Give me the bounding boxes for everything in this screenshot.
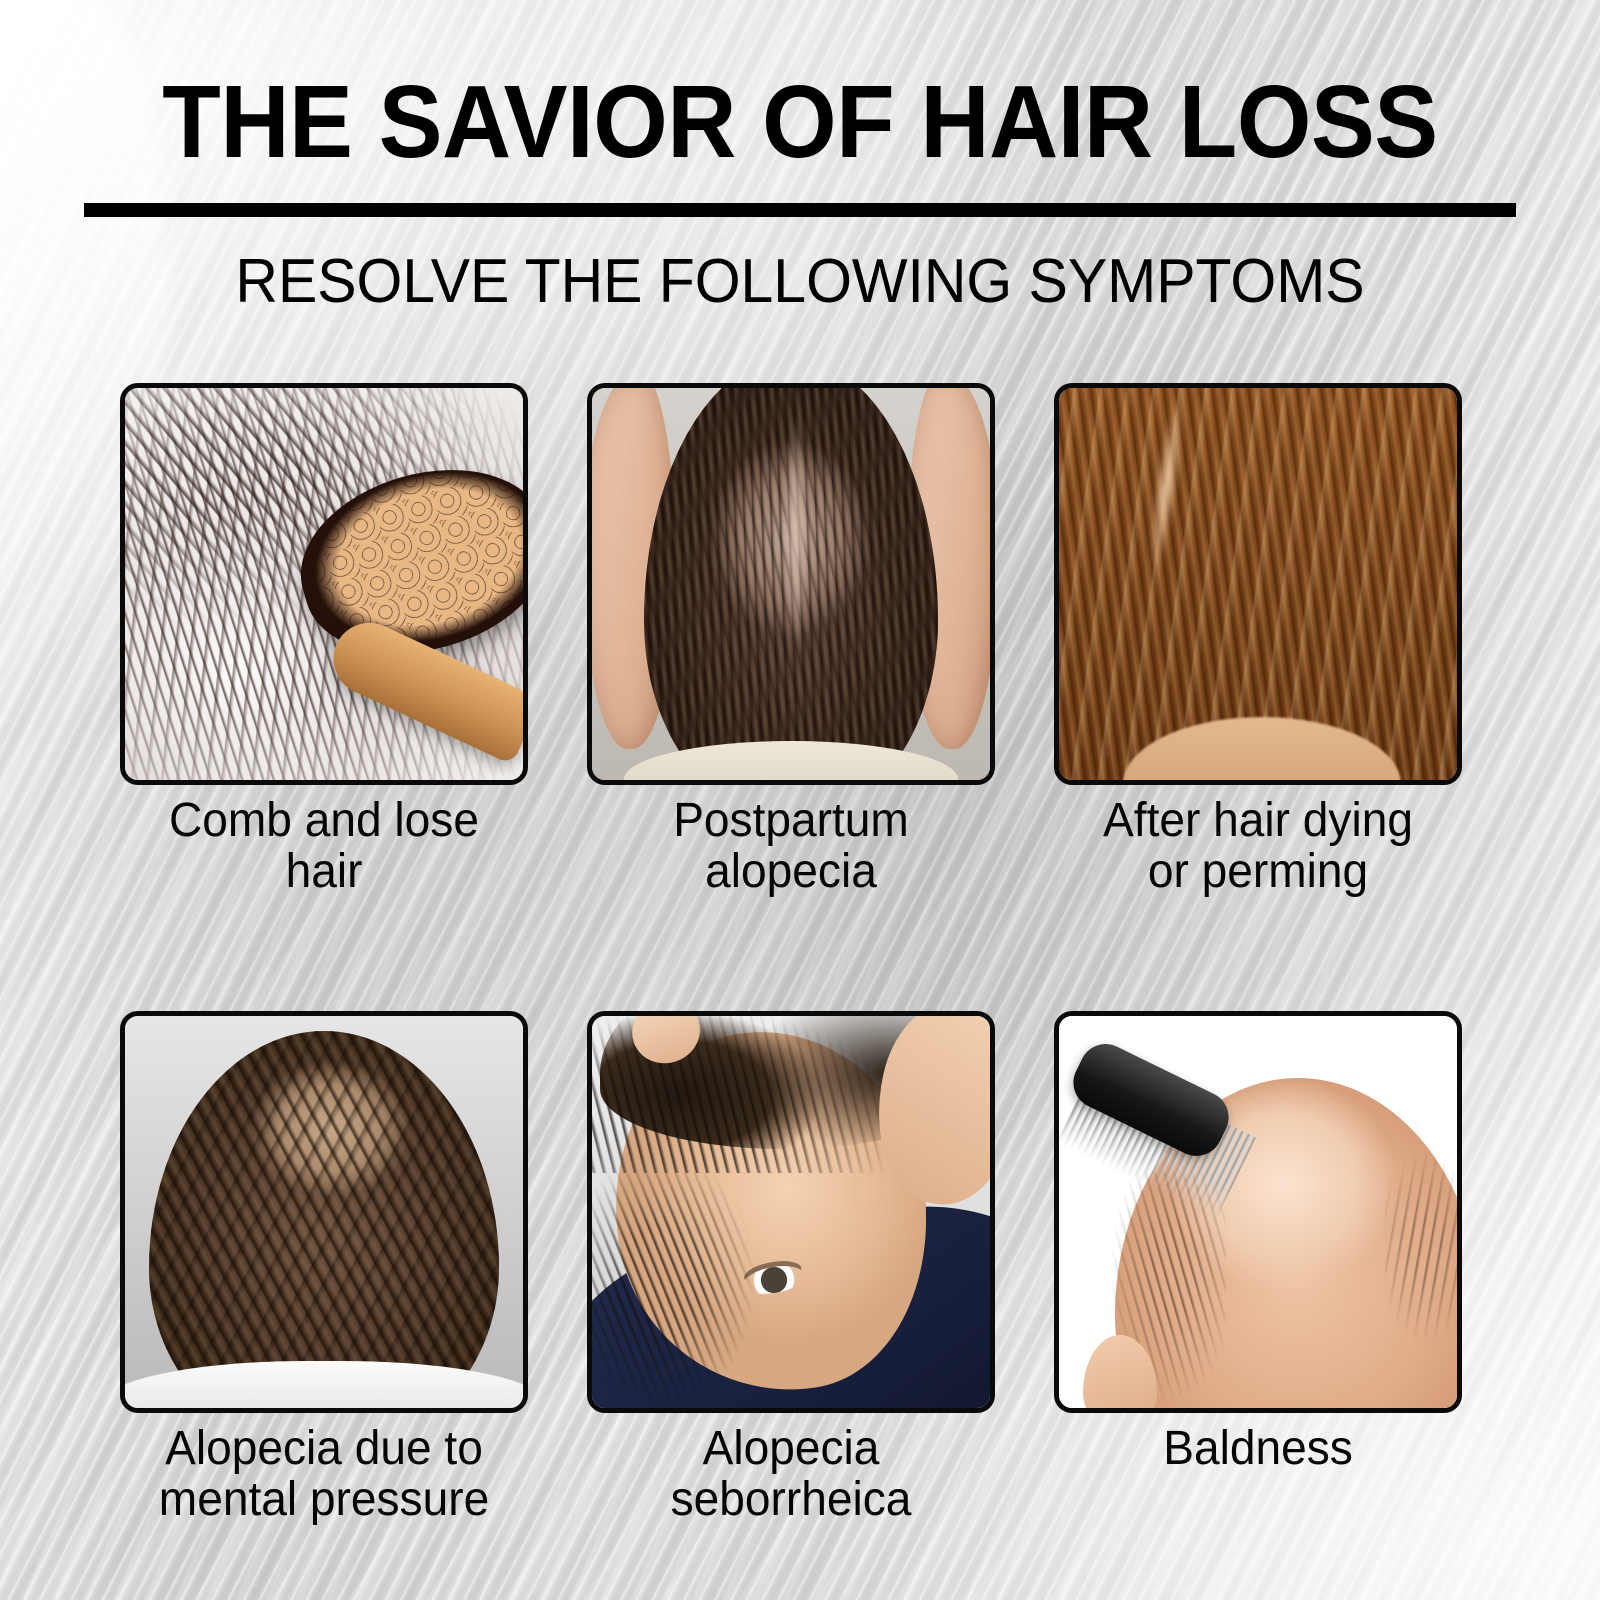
symptom-card-alopecia-due-to-mental-pressure[interactable]: Alopecia due to mental pressure xyxy=(120,1011,528,1526)
symptom-caption: Baldness xyxy=(1062,1423,1454,1474)
side-hair-texture-right xyxy=(1385,1149,1462,1345)
symptom-card-baldness[interactable]: Baldness xyxy=(1054,1011,1462,1526)
symptom-card-postpartum-alopecia[interactable]: Postpartum alopecia xyxy=(587,383,995,898)
symptom-caption: Comb and lose hair xyxy=(128,795,520,898)
page-subtitle: RESOLVE THE FOLLOWING SYMPTOMS xyxy=(40,249,1560,314)
symptom-card-after-hair-dying-or-perming[interactable]: After hair dying or perming xyxy=(1054,383,1462,898)
symptom-grid: Comb and lose hair Postpartum alopecia xyxy=(120,383,1472,1525)
symptom-caption: Alopecia seborrheica xyxy=(595,1423,987,1526)
title-underline xyxy=(84,203,1516,217)
symptom-row-bottom: Alopecia due to mental pressure A xyxy=(120,1011,1472,1526)
symptom-thumbnail xyxy=(120,383,528,785)
symptom-thumbnail xyxy=(1054,383,1462,785)
hair-loss-promo-poster: THE SAVIOR OF HAIR LOSS RESOLVE THE FOLL… xyxy=(0,0,1600,1600)
hairbrush-with-lost-hair-image xyxy=(125,388,523,780)
poster-header: THE SAVIOR OF HAIR LOSS RESOLVE THE FOLL… xyxy=(0,70,1600,314)
symptom-card-alopecia-seborrheica[interactable]: Alopecia seborrheica xyxy=(587,1011,995,1526)
symptom-thumbnail xyxy=(1054,1011,1462,1413)
bald-head-with-brush-image xyxy=(1059,1016,1457,1408)
symptom-row-top: Comb and lose hair Postpartum alopecia xyxy=(120,383,1472,898)
symptom-caption: Postpartum alopecia xyxy=(595,795,987,898)
crown-bald-spot-image xyxy=(125,1016,523,1408)
symptom-caption: After hair dying or perming xyxy=(1062,795,1454,898)
page-title: THE SAVIOR OF HAIR LOSS xyxy=(56,70,1544,173)
symptom-card-comb-and-lose-hair[interactable]: Comb and lose hair xyxy=(120,383,528,898)
receding-hairline-man-image xyxy=(592,1016,990,1408)
symptom-thumbnail xyxy=(120,1011,528,1413)
symptom-caption: Alopecia due to mental pressure xyxy=(128,1423,520,1526)
hair-part-line xyxy=(783,412,809,655)
thinning-scalp-top-view-image xyxy=(592,388,990,780)
auburn-thinning-hair-image xyxy=(1059,388,1457,780)
beard-texture xyxy=(587,1173,767,1408)
symptom-thumbnail xyxy=(587,383,995,785)
symptom-thumbnail xyxy=(587,1011,995,1413)
hair-texture xyxy=(149,1031,499,1412)
